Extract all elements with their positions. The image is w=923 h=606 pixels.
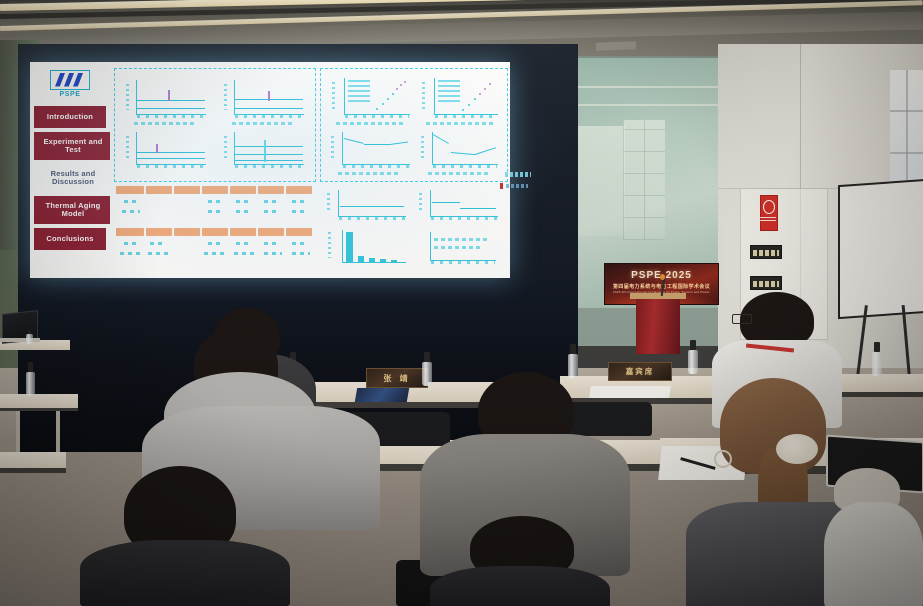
- data-table-1: [116, 186, 312, 220]
- chart-point: [474, 98, 476, 100]
- chart-point: [387, 98, 389, 100]
- slide-nav-results-label: Results and Discussion: [37, 170, 109, 186]
- chart-trace-b: [235, 154, 303, 155]
- chart-xticks: [431, 261, 495, 264]
- chart-ylabel: [126, 84, 129, 110]
- table-cell: [208, 210, 224, 213]
- chart-point-alt: [400, 84, 402, 86]
- chart-annotation: [434, 238, 490, 241]
- bottle-body: [872, 352, 882, 376]
- chart-point-alt: [484, 88, 486, 90]
- chart-bar: [324, 230, 410, 268]
- chart-ylabel: [331, 136, 334, 160]
- chart-trace-a: [137, 152, 205, 153]
- table-cell: [292, 200, 308, 203]
- chart-trace-b: [460, 208, 496, 209]
- table-header-cell: [202, 228, 228, 236]
- table-cell: [120, 252, 144, 255]
- chart-aging-2-caption: [428, 172, 488, 175]
- table-cell: [292, 210, 308, 213]
- display-side-marker: [500, 183, 503, 189]
- microphone-head: [660, 274, 665, 280]
- chart-ylabel: [126, 136, 129, 160]
- chart-point-alt: [404, 81, 406, 83]
- chart-axis-y: [434, 78, 435, 114]
- table-header-cell: [202, 186, 228, 194]
- nameplate-zhang-jing-text: 张 靖: [383, 373, 410, 384]
- conference-room-photo: PSPE Introduction Experiment and Test Re…: [0, 0, 923, 606]
- table-header-cell: [286, 228, 312, 236]
- slide-nav-thermal-aging-label: Thermal Aging Model: [37, 202, 109, 218]
- chart-xticks: [235, 115, 303, 118]
- chart-scatter-2-caption: [426, 122, 496, 125]
- chart-xticks: [339, 217, 405, 220]
- earring: [714, 450, 732, 468]
- data-table-2: [116, 228, 312, 262]
- desk-left-second-row-edge: [0, 468, 66, 473]
- podium: [636, 296, 680, 354]
- control-panel-buttons-2[interactable]: [753, 281, 779, 287]
- chart-point-alt: [489, 83, 491, 85]
- chart-xticks: [345, 115, 409, 118]
- table-cell: [150, 242, 166, 245]
- chart-trend-line: [451, 152, 475, 155]
- chart-xticks: [431, 217, 497, 220]
- control-panel-lower[interactable]: [750, 276, 782, 290]
- chart-peak-2: [268, 91, 270, 101]
- chart-trend-line: [344, 138, 364, 144]
- table-header-cell: [116, 186, 144, 194]
- chart-peak-3: [156, 144, 158, 153]
- table-cell: [148, 252, 170, 255]
- fire-sign-text: [760, 217, 776, 223]
- display-side-label: [505, 172, 531, 177]
- chart-scatter-1-caption: [336, 122, 406, 125]
- slide-nav-results[interactable]: Results and Discussion: [34, 164, 112, 192]
- chart-trace-a: [432, 202, 460, 203]
- slide-nav-introduction-label: Introduction: [47, 113, 93, 121]
- slide-content-area: [110, 62, 510, 278]
- desk-left-lower-edge: [0, 408, 78, 411]
- glasses-icon: [732, 314, 752, 324]
- control-panel-buttons[interactable]: [753, 250, 779, 256]
- torso: [430, 566, 610, 606]
- chart-annotation: [434, 246, 482, 249]
- table-header-cell: [146, 186, 172, 194]
- chart-point: [392, 93, 394, 95]
- pspe-logo: PSPE: [37, 67, 103, 100]
- chart-trace-c: [235, 160, 303, 161]
- chart-bar-item: [391, 260, 397, 262]
- chart-axis-y: [430, 232, 431, 260]
- chart-ylabel: [327, 193, 330, 213]
- control-panel-upper[interactable]: [750, 245, 782, 259]
- chart-aging-1: [328, 130, 414, 170]
- bottle-cap: [424, 352, 430, 362]
- chart-axis-y: [432, 132, 433, 164]
- chart-trace-b: [137, 108, 205, 109]
- table-cell: [264, 210, 280, 213]
- table-cell: [122, 210, 140, 213]
- table-cell: [124, 200, 136, 203]
- pspe-logo-mark: [55, 73, 85, 87]
- chart-point-alt: [396, 88, 398, 90]
- chart-ylabel: [332, 82, 335, 110]
- bottle-cap: [570, 344, 576, 354]
- slide-nav-introduction[interactable]: Introduction: [34, 106, 106, 128]
- table-cell: [236, 200, 252, 203]
- table-header-cell: [174, 186, 200, 194]
- chart-line-4: [222, 130, 306, 168]
- chart-trend-line: [433, 134, 449, 144]
- chart-trend-line: [390, 141, 408, 144]
- bottle-cap: [690, 340, 696, 350]
- chart-point: [376, 108, 378, 110]
- bottle-right-2: [688, 340, 698, 374]
- chart-point: [468, 104, 470, 106]
- chart-legend: [348, 80, 370, 102]
- bottle-cap: [28, 362, 33, 372]
- presentation-slide: PSPE Introduction Experiment and Test Re…: [30, 62, 510, 278]
- chart-xticks: [343, 165, 409, 168]
- chart-bar-item: [380, 259, 386, 262]
- slide-sidebar: PSPE Introduction Experiment and Test Re…: [30, 62, 110, 278]
- chart-legend: [438, 80, 460, 102]
- table-cell: [208, 200, 224, 203]
- chart-point: [462, 109, 464, 111]
- chart-line-3: [124, 130, 208, 168]
- table-header-cell: [146, 228, 172, 236]
- chart-bar-item: [369, 258, 375, 262]
- chart-ylabel: [224, 136, 227, 160]
- chart-trend-line: [364, 144, 390, 145]
- chart-ylabel: [421, 136, 424, 160]
- table-cell: [264, 200, 280, 203]
- slide-nav-experiment-label: Experiment and Test: [37, 138, 109, 154]
- bottle-cap: [874, 342, 880, 352]
- chart-trace-a: [340, 206, 404, 207]
- table-header-cell: [258, 186, 284, 194]
- ceiling-vent: [596, 41, 636, 50]
- table-cell: [208, 242, 224, 245]
- chart-ylabel: [419, 193, 422, 213]
- table-cell: [236, 242, 252, 245]
- table-cell: [292, 242, 308, 245]
- table-cell: [264, 242, 280, 245]
- chart-point: [382, 103, 384, 105]
- nameplate-guest-seat-text: 嘉宾席: [626, 366, 655, 377]
- slide-nav-experiment[interactable]: Experiment and Test: [34, 132, 112, 160]
- bottle-far-right: [872, 342, 882, 376]
- table-cell: [264, 252, 282, 255]
- chart-ylabel: [422, 82, 425, 110]
- chart-peak-4: [264, 140, 266, 162]
- chart-aging-1-caption: [338, 172, 398, 175]
- chart-point-alt: [479, 93, 481, 95]
- chart-ylabel: [328, 232, 331, 258]
- chart-trace-a: [235, 146, 303, 147]
- display-side-label-2: [506, 184, 528, 188]
- chart-axis-y: [338, 190, 339, 216]
- chart-line-1: [124, 78, 208, 118]
- fire-hose-icon: [763, 200, 775, 214]
- chart-axis-y: [342, 230, 343, 262]
- chart-xticks: [435, 115, 497, 118]
- podium-top-surface: [630, 293, 686, 299]
- scrunchie: [776, 434, 818, 464]
- flipchart-board: [838, 179, 923, 319]
- bottle-left-small: [26, 330, 33, 344]
- chart-axis-y: [136, 132, 137, 164]
- chart-line-1-caption: [134, 122, 196, 125]
- person-bottom-center: [430, 516, 610, 606]
- chart-trace-b: [235, 108, 303, 109]
- torso: [824, 502, 923, 606]
- chart-peak-1: [168, 90, 170, 101]
- table-header-cell: [286, 186, 312, 194]
- chart-lower-1: [324, 188, 410, 222]
- desk-left-second-row: [0, 452, 66, 468]
- bottle-body: [688, 350, 698, 374]
- chart-axis-y: [342, 132, 343, 164]
- chart-ylabel: [224, 84, 227, 110]
- chart-axis-y: [430, 190, 431, 216]
- bottle-left: [26, 362, 35, 396]
- logo-text: PSPE: [59, 91, 80, 98]
- bottle-body: [26, 372, 35, 396]
- slide-nav-conclusions-label: Conclusions: [46, 235, 93, 243]
- chart-trend-line: [475, 147, 496, 155]
- torso: [80, 540, 290, 606]
- chart-xticks: [137, 165, 205, 168]
- chart-lower-2: [416, 188, 502, 222]
- table-cell: [236, 210, 252, 213]
- table-header-cell: [258, 228, 284, 236]
- chart-aging-2: [418, 130, 502, 170]
- table-header-cell: [116, 228, 144, 236]
- chart-bar-item: [346, 232, 353, 262]
- chart-bar-item: [358, 256, 364, 262]
- person-far-right: [824, 468, 923, 606]
- chart-trace-b: [137, 158, 205, 159]
- chart-axis-x: [342, 262, 406, 263]
- table-cell: [234, 252, 256, 255]
- table-header-cell: [174, 228, 200, 236]
- laptop-base: [0, 338, 40, 342]
- chart-axis-y: [344, 78, 345, 114]
- chart-trace-a: [137, 100, 205, 101]
- slide-nav-conclusions[interactable]: Conclusions: [34, 228, 106, 250]
- slide-nav-thermal-aging[interactable]: Thermal Aging Model: [34, 196, 112, 224]
- chart-line-2-caption: [232, 122, 294, 125]
- bottle-body: [26, 334, 33, 344]
- chart-line-2: [222, 78, 306, 118]
- table-cell: [292, 252, 310, 255]
- desk-left-lower: [0, 394, 78, 408]
- logo-frame: [50, 70, 90, 90]
- person-bottom-left: [80, 466, 290, 606]
- table-cell: [204, 252, 226, 255]
- table-cell: [124, 242, 136, 245]
- chart-xticks: [235, 165, 303, 168]
- chart-xticks: [433, 165, 497, 168]
- chart-xticks: [137, 115, 205, 118]
- chart-scatter-1: [328, 76, 414, 120]
- table-header-cell: [230, 186, 256, 194]
- table-header-cell: [230, 228, 256, 236]
- chart-lower-4: [416, 230, 502, 268]
- chart-scatter-2: [418, 76, 502, 120]
- glass-reflection-grid: [623, 120, 665, 240]
